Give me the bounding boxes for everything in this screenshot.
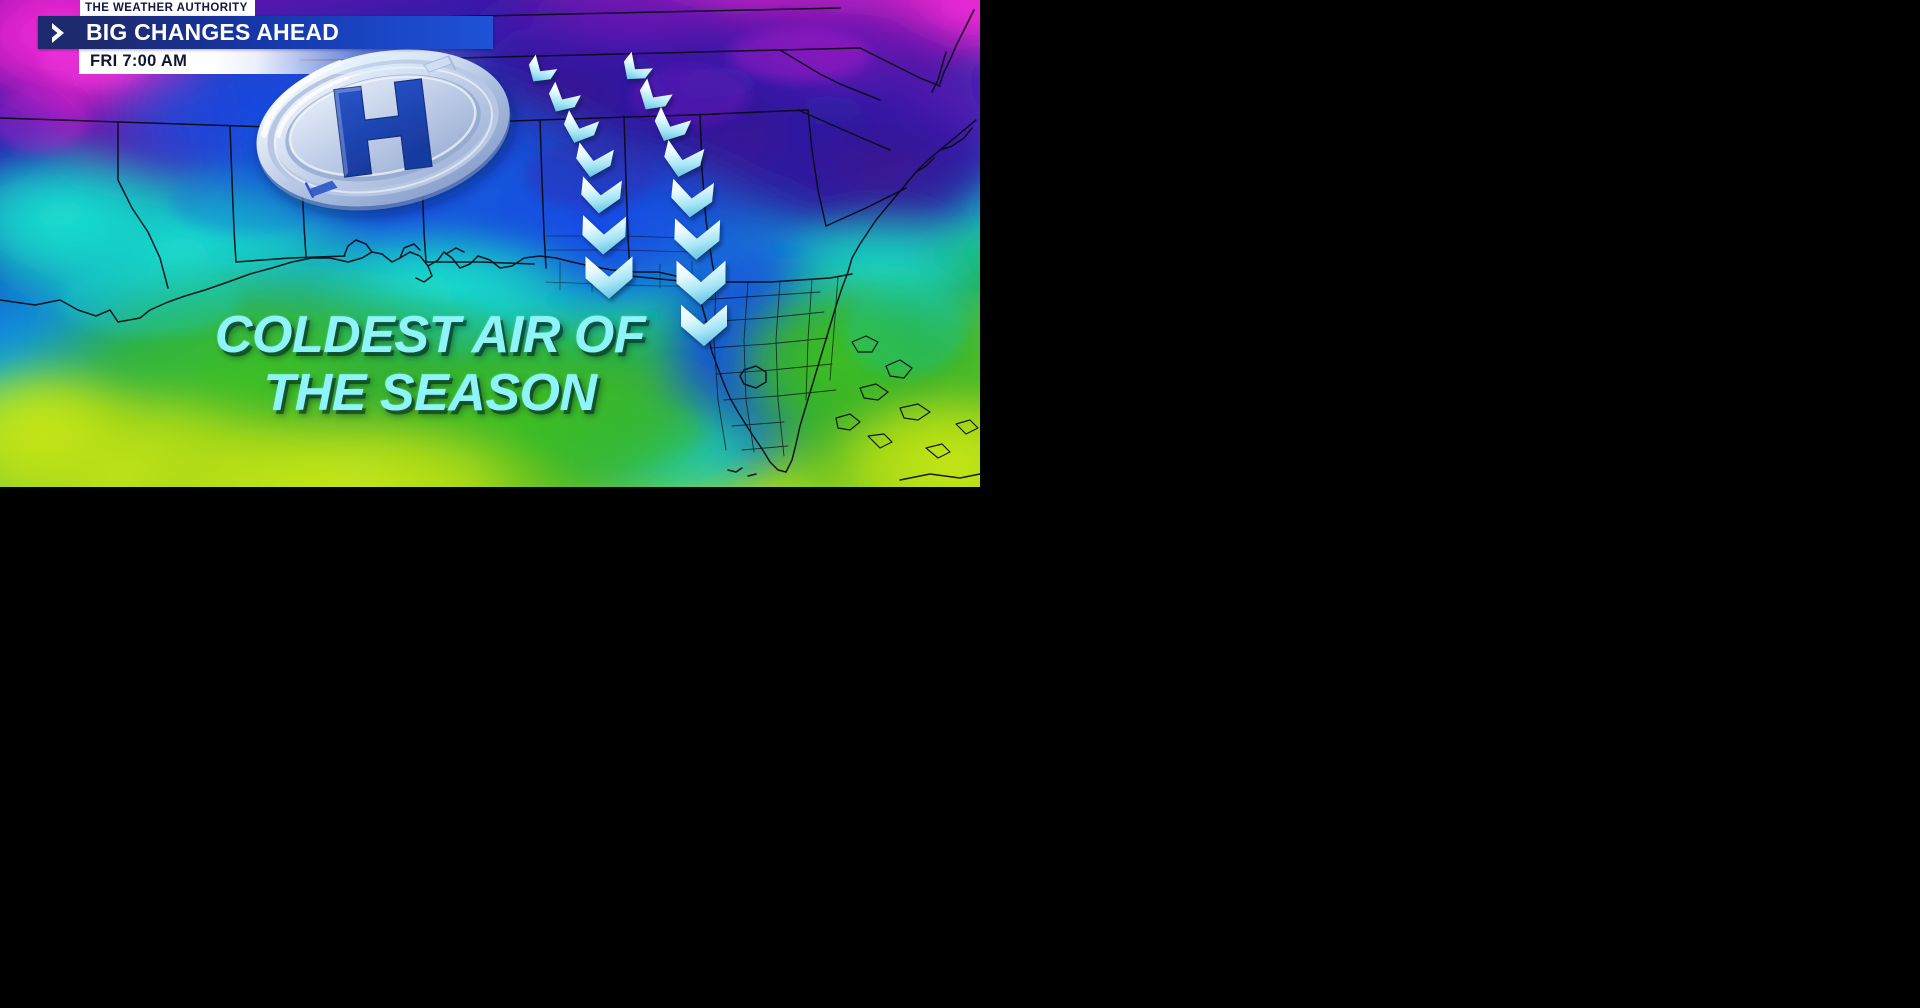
screen-root: COLDEST AIR OF THE SEASON THE WEATHER AU… [0,0,1920,1008]
timestamp-label: FRI 7:00 AM [79,53,187,70]
weather-map-graphic: COLDEST AIR OF THE SEASON THE WEATHER AU… [0,0,980,487]
headline-label: BIG CHANGES AHEAD [78,21,339,44]
timestamp-banner: FRI 7:00 AM [79,48,499,74]
weather-authority-banner: THE WEATHER AUTHORITY [80,0,255,17]
weather-authority-label: THE WEATHER AUTHORITY [85,3,248,15]
chevron-right-icon [38,21,78,45]
headline-banner: BIG CHANGES AHEAD [38,16,493,49]
